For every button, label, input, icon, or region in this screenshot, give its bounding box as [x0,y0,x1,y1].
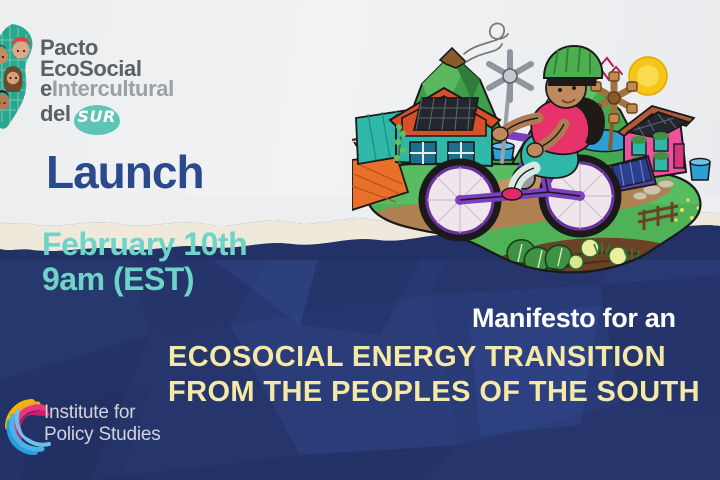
institute-for-policy-studies-logo: Institute for Policy Studies [2,396,187,460]
ips-line-1: Institute for [44,402,161,424]
headline-main: ECOSOCIAL ENERGY TRANSITION FROM THE PEO… [168,340,700,411]
south-america-faces-icon [0,22,44,132]
headline-kicker: Manifesto for an [472,303,676,334]
ips-line-2: Policy Studies [44,424,161,446]
event-date: February 10th [42,227,247,262]
ecosocial-village-illustration [352,14,720,286]
headline-line-2: FROM THE PEOPLES OF THE SOUTH [168,375,700,410]
pacto-logo-wordmark: Pacto EcoSocial eIntercultural delSUR [40,38,174,130]
pacto-line-4: del [40,101,71,126]
pacto-line-3: Intercultural [52,76,174,101]
poster-canvas: Pacto EcoSocial eIntercultural delSUR La… [0,0,720,480]
event-datetime: February 10th 9am (EST) [42,227,247,296]
launch-title: Launch [46,145,204,199]
pacto-line-3-prefix: e [40,76,52,101]
pacto-ecosocial-logo: Pacto EcoSocial eIntercultural delSUR [0,22,190,137]
headline-line-1: ECOSOCIAL ENERGY TRANSITION [168,340,700,375]
sur-bubble-icon: SUR [74,105,120,135]
event-time: 9am (EST) [42,262,247,297]
sur-bubble-text: SUR [74,109,120,124]
ips-wordmark: Institute for Policy Studies [44,402,161,447]
